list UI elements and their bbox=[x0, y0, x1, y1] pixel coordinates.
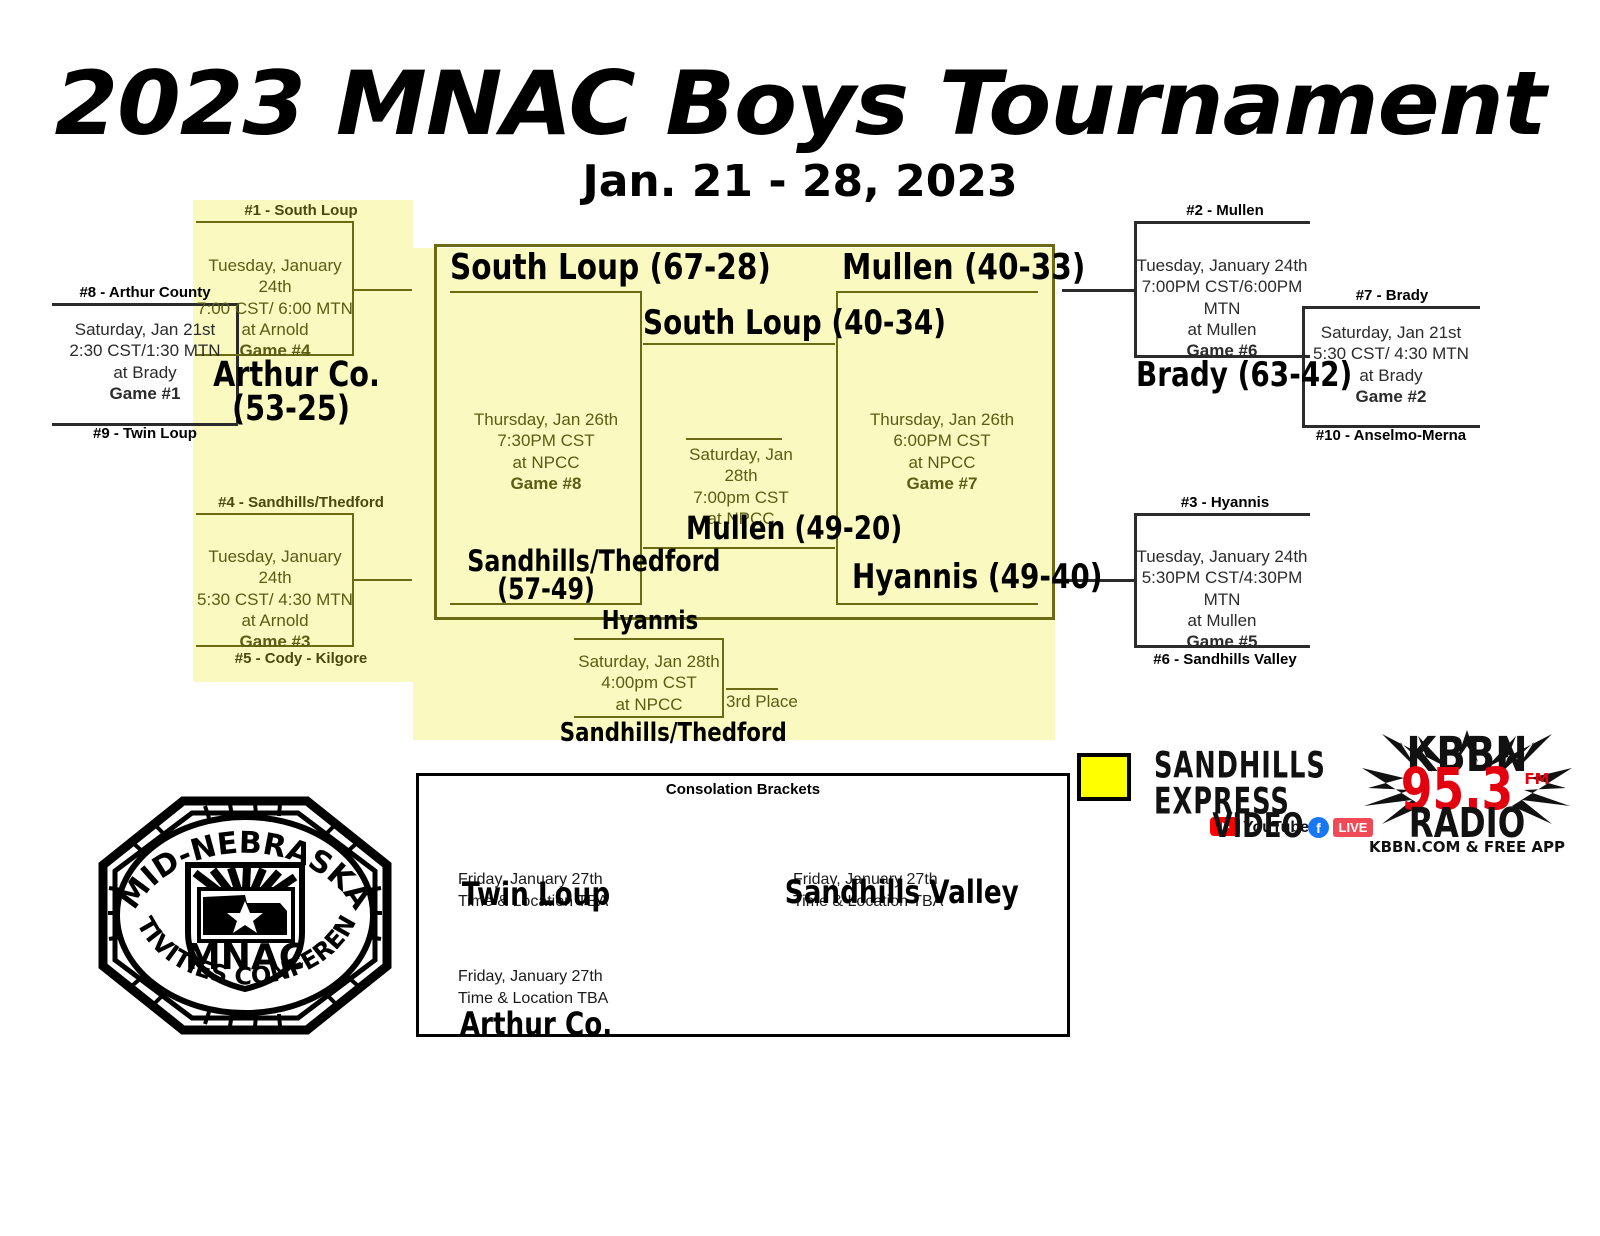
semifinal-team-mullen: Mullen (40-33) bbox=[842, 250, 1088, 286]
bracket-connector-g3-out bbox=[352, 579, 412, 581]
game1-location: at Brady bbox=[52, 362, 238, 383]
legend-color-swatch bbox=[1077, 753, 1131, 801]
game5-number: Game #5 bbox=[1134, 631, 1310, 652]
seed-label-2-mullen: #2 - Mullen bbox=[1140, 203, 1310, 220]
game2-info: Saturday, Jan 21st 5:30 CST/ 4:30 MTN at… bbox=[1302, 322, 1480, 407]
game6-location: at Mullen bbox=[1134, 319, 1310, 340]
winner-arthur-co-line1: Arthur Co. bbox=[213, 358, 369, 393]
third-place-team-hyannis: Hyannis bbox=[576, 608, 724, 634]
game8-location: at NPCC bbox=[450, 452, 642, 473]
mnac-logo: MNAC MID-NEBRASKA ACTIVITIES CONFERENCE bbox=[95, 793, 395, 1038]
consolation-team-twin-loup: Twin Loup bbox=[457, 878, 614, 910]
winner-brady: Brady (63-42) bbox=[1136, 358, 1300, 392]
third-place-time: 4:00pm CST bbox=[574, 672, 724, 693]
semifinal-team-south-loup: South Loup (67-28) bbox=[450, 250, 721, 286]
game8-info: Thursday, Jan 26th 7:30PM CST at NPCC Ga… bbox=[450, 409, 642, 494]
game8-date: Thursday, Jan 26th bbox=[450, 409, 642, 430]
game7-number: Game #7 bbox=[846, 473, 1038, 494]
game2-number: Game #2 bbox=[1302, 386, 1480, 407]
consolation-title: Consolation Brackets bbox=[416, 781, 1070, 798]
championship-team-south-loup: South Loup (40-34) bbox=[643, 306, 914, 340]
game1-number: Game #1 bbox=[52, 383, 238, 404]
game3-location: at Arnold bbox=[196, 610, 354, 631]
bracket-line-g2-top bbox=[1302, 306, 1480, 309]
game8-number: Game #8 bbox=[450, 473, 642, 494]
game6-date: Tuesday, January 24th bbox=[1134, 255, 1310, 276]
bracket-line-g7-bottom bbox=[838, 603, 1038, 605]
game7-date: Thursday, Jan 26th bbox=[846, 409, 1038, 430]
game5-time: 5:30PM CST/4:30PM MTN bbox=[1134, 567, 1310, 610]
game5-date: Tuesday, January 24th bbox=[1134, 546, 1310, 567]
game3-date: Tuesday, January 24th bbox=[196, 546, 354, 589]
sandhills-express-video-label: VIDEO bbox=[1198, 807, 1318, 846]
seed-label-1-south-loup: #1 - South Loup bbox=[196, 203, 406, 220]
bracket-line-final-result bbox=[686, 438, 782, 440]
kbbn-radio-logo: KBBN 95.3 FM RADIO KBBN.COM & FREE APP bbox=[1352, 728, 1582, 858]
game2-date: Saturday, Jan 21st bbox=[1302, 322, 1480, 343]
seed-label-7-brady: #7 - Brady bbox=[1302, 288, 1482, 305]
third-place-info: Saturday, Jan 28th 4:00pm CST at NPCC bbox=[574, 651, 724, 715]
consolation-g2-date: Friday, January 27th bbox=[458, 966, 648, 988]
bracket-line-3rd-top bbox=[574, 638, 724, 640]
game5-info: Tuesday, January 24th 5:30PM CST/4:30PM … bbox=[1134, 546, 1310, 652]
championship-date: Saturday, Jan 28th bbox=[686, 444, 796, 487]
game4-info: Tuesday, January 24th 7:00 CST/ 6:00 MTN… bbox=[196, 255, 354, 361]
game7-info: Thursday, Jan 26th 6:00PM CST at NPCC Ga… bbox=[846, 409, 1038, 494]
kbbn-fm-label: FM bbox=[1520, 770, 1554, 788]
game7-location: at NPCC bbox=[846, 452, 1038, 473]
seed-label-10-anselmo-merna: #10 - Anselmo-Merna bbox=[1302, 428, 1480, 445]
third-place-date: Saturday, Jan 28th bbox=[574, 651, 724, 672]
third-place-team-sandhills-thedford: Sandhills/Thedford bbox=[560, 720, 740, 746]
semifinal-team-sandhills-thedford-line2: (57-49) bbox=[467, 575, 624, 604]
kbbn-url: KBBN.COM & FREE APP bbox=[1352, 838, 1582, 856]
bracket-line-g3-top bbox=[196, 513, 354, 515]
mnac-logo-svg: MNAC MID-NEBRASKA ACTIVITIES CONFERENCE bbox=[95, 793, 395, 1038]
third-place-location: at NPCC bbox=[574, 694, 724, 715]
game4-time: 7:00 CST/ 6:00 MTN bbox=[196, 298, 354, 319]
page-subtitle: Jan. 21 - 28, 2023 bbox=[0, 160, 1600, 204]
semifinal-team-hyannis: Hyannis (49-40) bbox=[852, 560, 1098, 594]
bracket-line-final-top bbox=[643, 343, 835, 345]
bracket-line-g6-top bbox=[1134, 221, 1310, 224]
game3-number: Game #3 bbox=[196, 631, 354, 652]
consolation-g2-info: Friday, January 27th Time & Location TBA bbox=[458, 966, 648, 1009]
bracket-line-g7-top bbox=[838, 291, 1038, 293]
game4-date: Tuesday, January 24th bbox=[196, 255, 354, 298]
third-place-result-label: 3rd Place bbox=[726, 691, 816, 712]
bracket-line-3rd-result bbox=[726, 688, 778, 690]
game7-time: 6:00PM CST bbox=[846, 430, 1038, 451]
game2-time: 5:30 CST/ 4:30 MTN bbox=[1302, 343, 1480, 364]
page-title: 2023 MNAC Boys Tournament bbox=[0, 60, 1600, 148]
bracket-connector-g6-out bbox=[1062, 289, 1134, 292]
game8-time: 7:30PM CST bbox=[450, 430, 642, 451]
game2-location: at Brady bbox=[1302, 365, 1480, 386]
game4-location: at Arnold bbox=[196, 319, 354, 340]
bracket-line-g4-top bbox=[196, 221, 354, 223]
game3-info: Tuesday, January 24th 5:30 CST/ 4:30 MTN… bbox=[196, 546, 354, 652]
game6-time: 7:00PM CST/6:00PM MTN bbox=[1134, 276, 1310, 319]
seed-label-9-twin-loup: #9 - Twin Loup bbox=[52, 426, 238, 443]
consolation-team-sandhills-valley: Sandhills Valley bbox=[785, 876, 965, 908]
bracket-connector-g4-out bbox=[352, 289, 412, 291]
game6-info: Tuesday, January 24th 7:00PM CST/6:00PM … bbox=[1134, 255, 1310, 361]
consolation-team-arthur-co: Arthur Co. bbox=[457, 1008, 614, 1040]
bracket-line-g8-top bbox=[450, 291, 642, 293]
seed-label-3-hyannis: #3 - Hyannis bbox=[1140, 495, 1310, 512]
seed-label-4-sandhills-thedford: #4 - Sandhills/Thedford bbox=[196, 495, 406, 512]
seed-label-6-sandhills-valley: #6 - Sandhills Valley bbox=[1140, 652, 1310, 669]
bracket-line-g5-top bbox=[1134, 513, 1310, 516]
championship-team-mullen: Mullen (49-20) bbox=[686, 512, 948, 544]
championship-time: 7:00pm CST bbox=[686, 487, 796, 508]
game3-time: 5:30 CST/ 4:30 MTN bbox=[196, 589, 354, 610]
game5-location: at Mullen bbox=[1134, 610, 1310, 631]
seed-label-5-cody-kilgore: #5 - Cody - Kilgore bbox=[196, 651, 406, 668]
winner-arthur-co-line2: (53-25) bbox=[213, 392, 369, 427]
